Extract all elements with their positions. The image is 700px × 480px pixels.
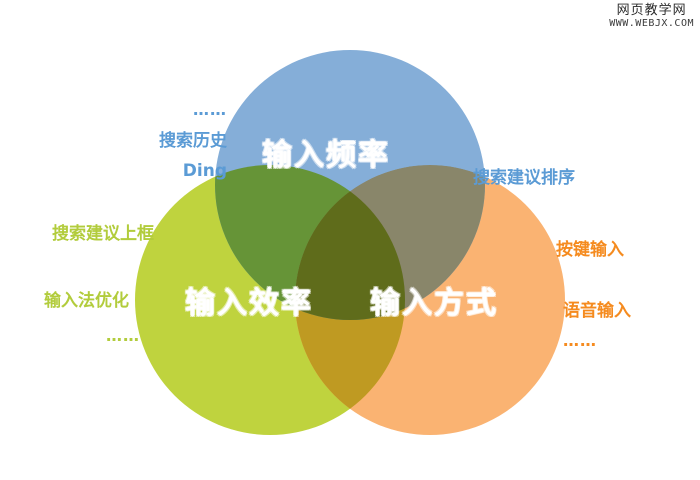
annotation-search-history: 搜索历史 xyxy=(159,126,227,151)
annotation-search-suggestion-box: 搜索建议上框 xyxy=(52,219,154,244)
annotation-bottom-right-ellipsis: …… xyxy=(563,331,597,350)
venn-label-top: 输入频率 xyxy=(262,130,390,174)
venn-label-right: 输入方式 xyxy=(370,278,498,322)
annotation-ding: Ding xyxy=(183,161,227,181)
annotation-key-input: 按键输入 xyxy=(556,235,624,260)
venn-label-left: 输入效率 xyxy=(185,278,313,322)
watermark-brand: 网页教学网 xyxy=(609,4,694,18)
watermark-url: WWW.WEBJX.COM xyxy=(609,19,694,30)
venn-diagram-canvas: 输入频率 输入效率 输入方式 …… 搜索历史 Ding 搜索建议排序 搜索建议上… xyxy=(0,0,700,480)
annotation-voice-input: 语音输入 xyxy=(563,296,631,321)
annotation-search-suggestion-ranking: 搜索建议排序 xyxy=(473,163,575,188)
watermark: 网页教学网 WWW.WEBJX.COM xyxy=(609,4,694,29)
annotation-top-left-ellipsis: …… xyxy=(193,100,227,119)
annotation-ime-optimization: 输入法优化 xyxy=(44,286,129,311)
annotation-bottom-left-ellipsis: …… xyxy=(106,326,140,345)
